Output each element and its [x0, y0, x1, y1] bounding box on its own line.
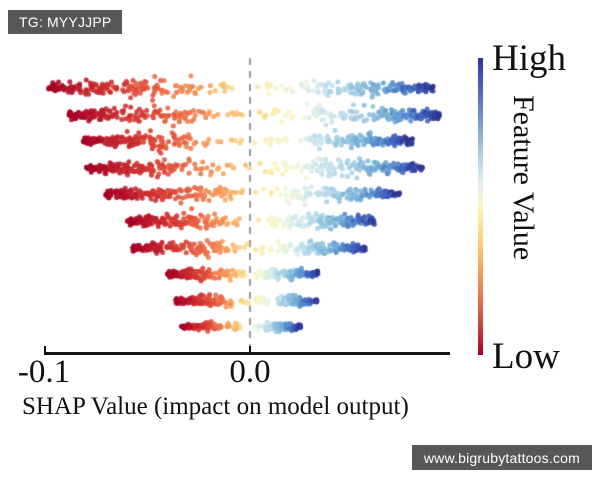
x-axis-label: SHAP Value (impact on model output)	[22, 393, 409, 421]
site-watermark-badge: www.bigrubytattoos.com	[412, 445, 592, 470]
tg-watermark-badge: TG: MYYJJPP	[8, 10, 122, 34]
x-tick-label-zero: 0.0	[229, 356, 270, 389]
colorbar-high-label: High	[492, 40, 566, 77]
x-tick-label-neg01: -0.1	[18, 356, 70, 389]
colorbar-title: Feature Value	[506, 95, 540, 260]
shap-beeswarm-figure: -0.1 0.0 SHAP Value (impact on model out…	[0, 0, 600, 480]
x-tick-mark-zero	[249, 346, 251, 353]
x-tick-mark-neg01	[44, 346, 46, 353]
colorbar-low-label: Low	[492, 338, 560, 375]
feature-value-colorbar	[478, 58, 483, 355]
